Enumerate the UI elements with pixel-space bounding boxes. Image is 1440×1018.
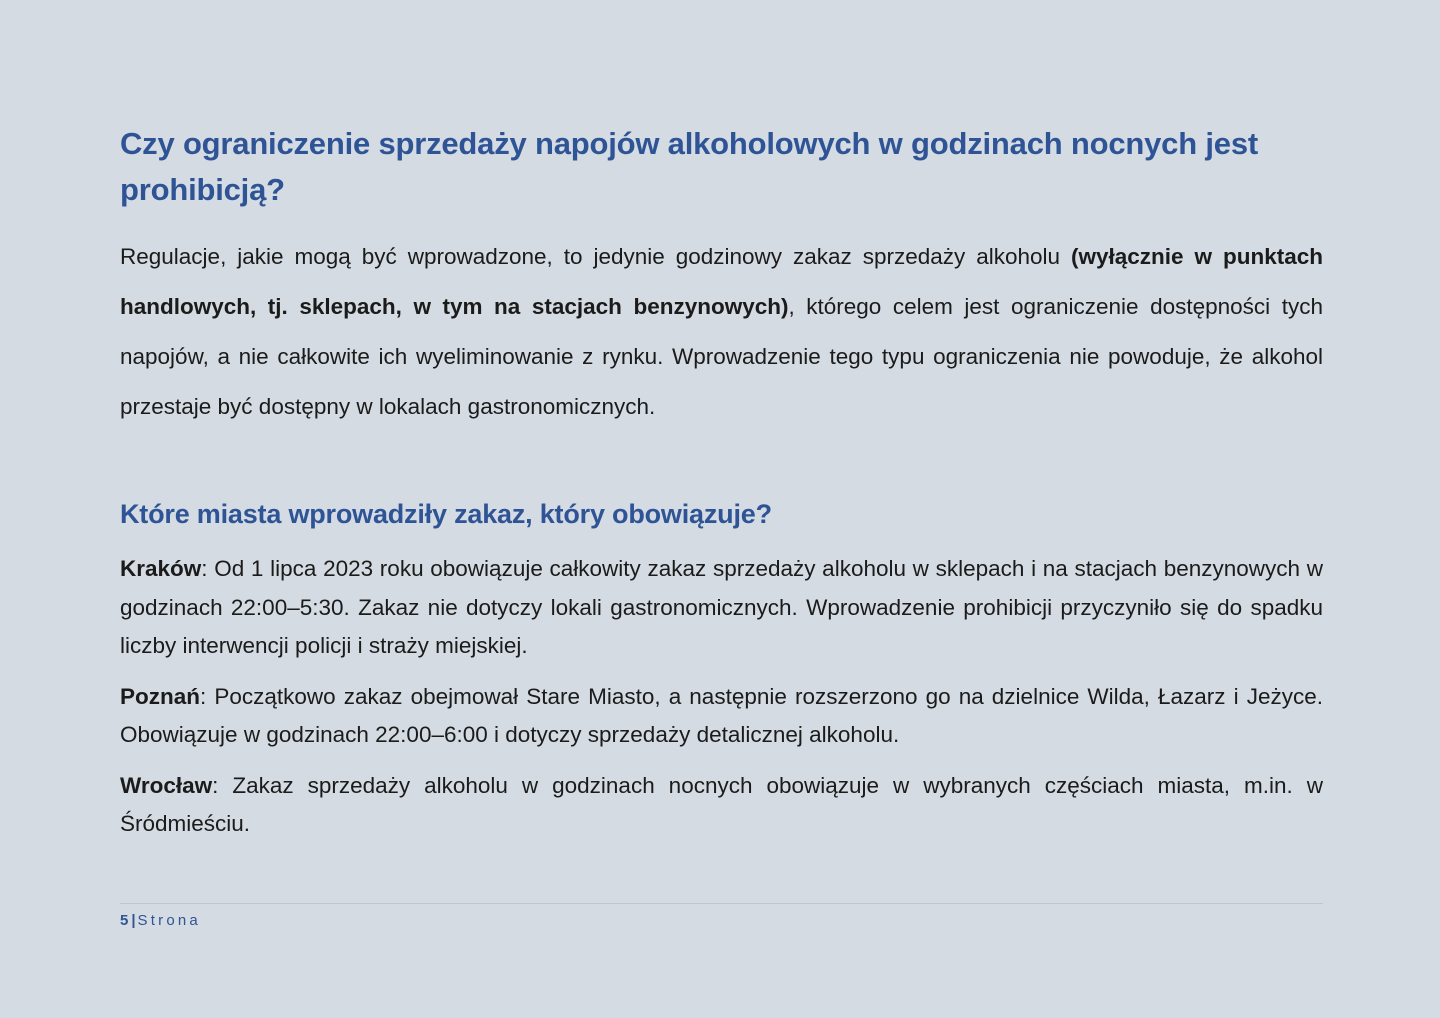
footer-page-indicator: 5|Strona xyxy=(120,912,1323,929)
city-paragraph-poznan: Poznań: Początkowo zakaz obejmował Stare… xyxy=(120,678,1323,755)
document-page: Czy ograniczenie sprzedaży napojów alkoh… xyxy=(0,0,1440,1018)
page-footer: 5|Strona xyxy=(120,903,1323,929)
city-name-wroclaw: Wrocław xyxy=(120,773,212,798)
section-1-paragraph: Regulacje, jakie mogą być wprowadzone, t… xyxy=(120,213,1323,432)
city-name-poznan: Poznań xyxy=(120,684,200,709)
city-text-wroclaw: Zakaz sprzedaży alkoholu w godzinach noc… xyxy=(120,773,1323,837)
footer-divider xyxy=(120,903,1323,904)
heading-gap xyxy=(120,534,1323,550)
section-1-heading: Czy ograniczenie sprzedaży napojów alkoh… xyxy=(120,0,1323,213)
section-2-heading: Które miasta wprowadziły zakaz, który ob… xyxy=(120,494,1323,534)
city-paragraph-wroclaw: Wrocław: Zakaz sprzedaży alkoholu w godz… xyxy=(120,767,1323,844)
footer-separator: | xyxy=(129,912,137,929)
city-paragraph-krakow: Kraków: Od 1 lipca 2023 roku obowiązuje … xyxy=(120,550,1323,666)
page-content: Czy ograniczenie sprzedaży napojów alkoh… xyxy=(120,0,1323,844)
section-spacer xyxy=(120,432,1323,494)
city-separator-poznan: : xyxy=(200,684,214,709)
footer-page-number: 5 xyxy=(120,912,129,929)
city-separator-wroclaw: : xyxy=(212,773,232,798)
city-text-krakow: Od 1 lipca 2023 roku obowiązuje całkowit… xyxy=(120,556,1323,658)
footer-page-label: Strona xyxy=(138,912,201,929)
city-separator-krakow: : xyxy=(201,556,214,581)
city-name-krakow: Kraków xyxy=(120,556,201,581)
city-text-poznan: Początkowo zakaz obejmował Stare Miasto,… xyxy=(120,684,1323,748)
paragraph-part-1: Regulacje, jakie mogą być wprowadzone, t… xyxy=(120,244,1071,269)
